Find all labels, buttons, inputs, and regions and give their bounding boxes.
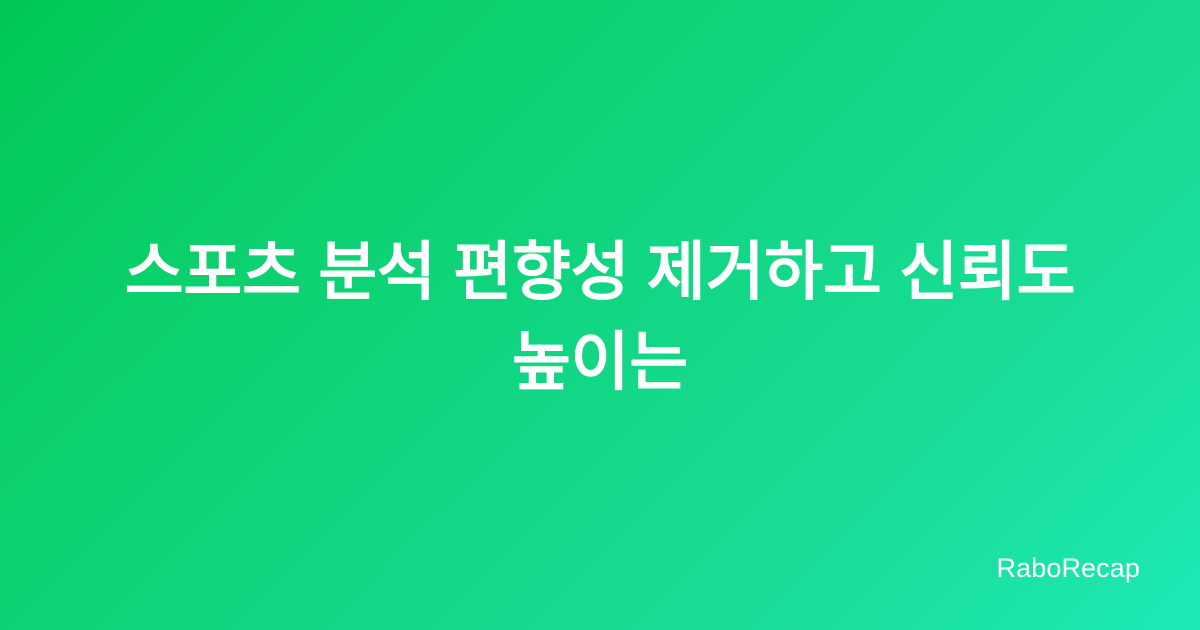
social-share-card: 스포츠 분석 편향성 제거하고 신뢰도 높이는 RaboRecap xyxy=(0,0,1200,630)
headline-container: 스포츠 분석 편향성 제거하고 신뢰도 높이는 xyxy=(0,0,1200,630)
page-title: 스포츠 분석 편향성 제거하고 신뢰도 높이는 xyxy=(90,227,1110,407)
brand-watermark: RaboRecap xyxy=(997,552,1141,584)
